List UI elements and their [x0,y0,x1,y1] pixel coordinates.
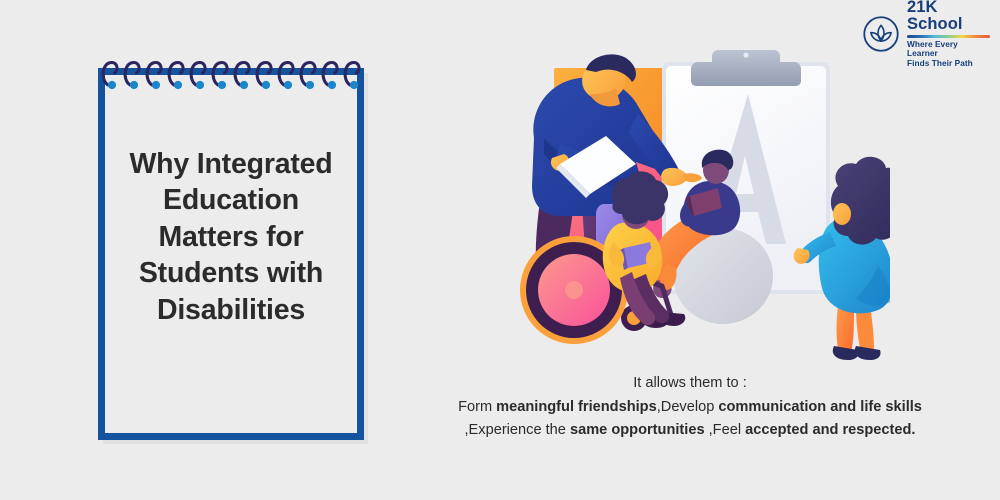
logo-name: 21K School [907,0,990,34]
notebook-spiral-binding [96,46,372,94]
caption-body: Form meaningful friendships,Develop comm… [430,396,950,443]
inclusive-classroom-illustration [486,18,890,370]
logo-tagline-line1: Where Every Learner [907,40,990,60]
logo-tagline: Where Every Learner Finds Their Path [907,40,990,69]
notebook-card: Why Integrated Education Matters for Stu… [98,68,364,440]
poster-canvas: 21K School Where Every Learner Finds The… [0,0,1000,500]
caption-lead: It allows them to : [430,372,950,396]
page-title: Why Integrated Education Matters for Stu… [112,146,350,328]
logo-text-block: 21K School Where Every Learner Finds The… [907,0,990,69]
caption-block: It allows them to : Form meaningful frie… [430,372,950,443]
logo-gradient-rule [907,35,990,37]
logo-tagline-line2: Finds Their Path [907,59,990,69]
